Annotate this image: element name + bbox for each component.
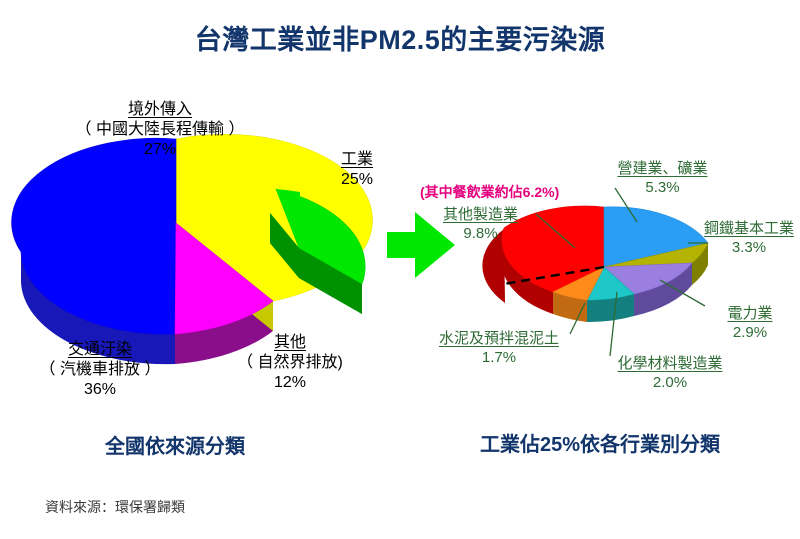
right-label-chemical: 化學材料製造業 2.0% [605,355,735,393]
left-slice-natural-top [175,223,273,334]
leader-power [660,280,705,306]
right-label-construction-pct: 5.3% [600,179,725,198]
left-label-overseas-title: 境外傳入 [60,100,260,120]
left-label-industry: 工業 25% [312,150,402,190]
left-label-industry-pct: 25% [312,170,402,190]
leader-chemical [610,292,617,356]
right-label-power: 電力業 2.9% [710,305,790,343]
right-label-steel-title: 鋼鐵基本工業 [698,220,800,239]
right-label-othermfg-pct: 9.8% [418,225,543,244]
left-slice-industry-top2 [276,189,300,248]
left-label-overseas-pct: 27% [60,140,260,160]
left-label-traffic-sub: （ 汽機車排放 ） [25,360,175,380]
left-label-natural-pct: 12% [215,373,365,393]
right-slice-power-wall [634,263,692,316]
left-label-natural-title: 其他 [215,333,365,353]
right-slice-cement-top [553,267,604,300]
right-label-chemical-title: 化學材料製造業 [605,355,735,374]
right-label-steel-pct: 3.3% [698,239,800,258]
right-slice-chemical-wall [587,294,634,322]
infographic-canvas: 台灣工業並非PM2.5的主要污染源 [0,0,800,539]
left-label-natural-sub: （ 自然界排放) [215,353,365,373]
page-title: 台灣工業並非PM2.5的主要污染源 [0,18,800,57]
caption-left-chart: 全國依來源分類 [60,430,290,459]
left-label-natural: 其他 （ 自然界排放) 12% [215,333,365,393]
left-label-industry-title: 工業 [312,150,402,170]
right-label-power-title: 電力業 [710,305,790,324]
left-slice-industry-top [276,189,365,284]
right-label-cement-pct: 1.7% [424,349,574,368]
right-slice-construction-top [604,207,708,267]
right-slice-steel-top [604,243,708,267]
left-label-traffic-title: 交通汙染 [25,340,175,360]
right-label-power-pct: 2.9% [710,324,790,343]
right-label-othermfg: 其他製造業 9.8% [418,206,543,244]
right-label-chemical-pct: 2.0% [605,374,735,393]
right-slice-power-top [604,263,692,294]
left-slice-industry-side2 [270,213,362,314]
right-label-steel: 鋼鐵基本工業 3.3% [698,220,800,258]
right-label-construction-title: 營建業、礦業 [600,160,725,179]
left-slice-industry-side [270,213,362,314]
restaurant-share-dashed-line [504,267,604,284]
left-label-traffic: 交通汙染 （ 汽機車排放 ） 36% [25,340,175,400]
restaurant-share-note: (其中餐飲業約佔6.2%) [420,182,559,202]
source-note: 資料來源：環保署歸類 [45,497,185,517]
right-label-cement: 水泥及預拌混泥土 1.7% [424,330,574,368]
left-label-overseas: 境外傳入 （ 中國大陸長程傳輸 ） 27% [60,100,260,160]
left-label-overseas-sub: （ 中國大陸長程傳輸 ） [60,120,260,140]
right-label-othermfg-title: 其他製造業 [418,206,543,225]
left-slice-overseas-side [176,223,273,331]
right-label-cement-title: 水泥及預拌混泥土 [424,330,574,349]
caption-right-chart: 工業佔25%依各行業別分類 [455,428,745,457]
left-slice-traffic-top [12,138,176,334]
left-label-traffic-pct: 36% [25,380,175,400]
right-label-construction: 營建業、礦業 5.3% [600,160,725,198]
right-slice-cement-wall [553,292,587,322]
right-slice-chemical-top [587,267,634,300]
